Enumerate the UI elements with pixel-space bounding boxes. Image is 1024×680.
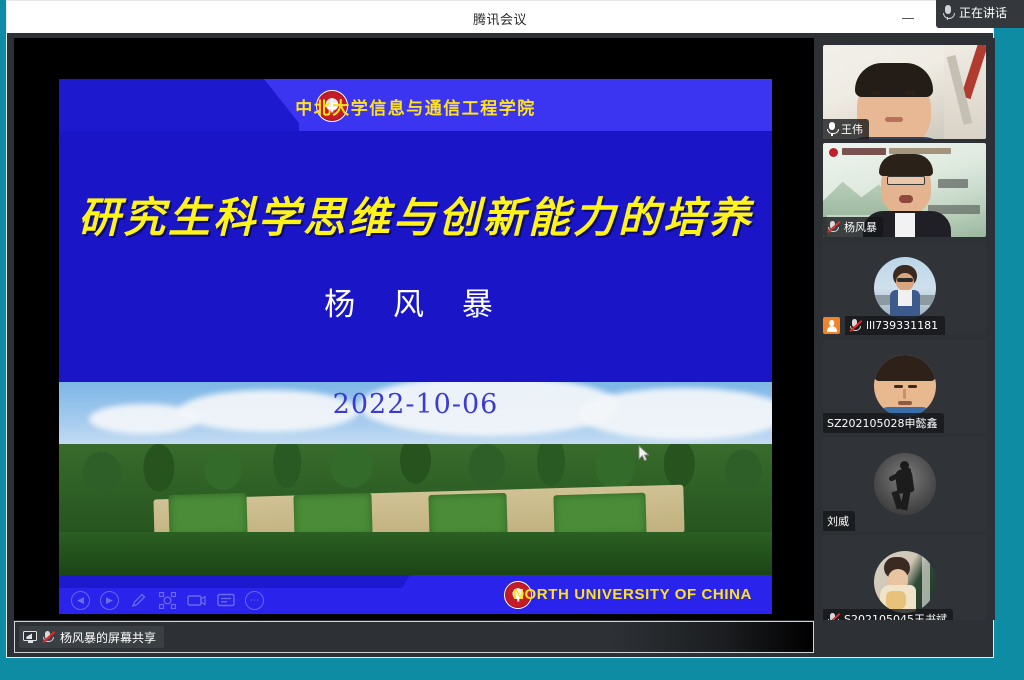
participant-name-chip: 刘威 [823, 511, 855, 531]
participant-name-chip: S202105045王书斌 [823, 609, 953, 620]
display-settings-icon[interactable] [187, 591, 206, 610]
participant-name-chip: lll739331181 [823, 316, 945, 335]
mic-muted-icon [849, 319, 862, 333]
participant-tile-yangfengbao[interactable]: 杨风暴 [823, 143, 986, 237]
participant-name: 刘威 [827, 513, 849, 529]
avatar [874, 355, 936, 417]
mic-muted-icon [827, 220, 840, 234]
previous-slide-icon[interactable]: ◀ [71, 591, 90, 610]
participant-tile-sz202105028[interactable]: SZ202105028申懿鑫 [823, 339, 986, 433]
slide-author: 杨 风 暴 [59, 279, 772, 324]
more-options-icon[interactable]: ⋯ [245, 591, 264, 610]
participant-name-chip: 杨风暴 [823, 217, 883, 237]
slide-footer-title: NORTH UNIVERSITY OF CHINA [513, 586, 752, 603]
pen-tool-icon[interactable] [129, 591, 148, 610]
avatar [874, 257, 936, 319]
mic-muted-icon [827, 612, 840, 620]
slide-date: 2022-10-06 [59, 389, 772, 420]
speaking-label: 正在讲话 [959, 4, 1007, 21]
minimize-button[interactable] [895, 7, 921, 27]
host-badge-icon [823, 317, 840, 334]
mic-icon [942, 5, 953, 20]
avatar [874, 551, 936, 613]
slide-header-band: 中北大学信息与通信工程学院 [59, 79, 772, 131]
participant-name: SZ202105028申懿鑫 [827, 415, 938, 431]
mic-on-icon [827, 122, 837, 136]
screen-share-label: 杨风暴的屏幕共享 [60, 629, 156, 646]
participant-name-chip: 王伟 [823, 119, 869, 139]
powerpoint-slide[interactable]: 中北大学信息与通信工程学院 研究生科学思维与创新能力的培养 杨 风 暴 2022… [59, 79, 772, 614]
next-slide-icon[interactable]: ▶ [100, 591, 119, 610]
subtitles-icon[interactable] [216, 591, 235, 610]
statusbar-fade [613, 622, 813, 652]
participant-tile-liuwei[interactable]: 刘威 [823, 437, 986, 531]
participant-name: S202105045王书斌 [844, 611, 947, 620]
meeting-window: 腾讯会议 中北大学信息与通信工程学院 研究生科学思维与创新能力的培养 杨 风 暴 [6, 0, 994, 658]
screen-share-chip[interactable]: 杨风暴的屏幕共享 [19, 626, 164, 648]
participant-name: 杨风暴 [844, 219, 877, 235]
avatar [874, 453, 936, 515]
window-titlebar: 腾讯会议 [7, 1, 993, 33]
screen-share-icon [23, 631, 37, 643]
shared-screen-area[interactable]: 中北大学信息与通信工程学院 研究生科学思维与创新能力的培养 杨 风 暴 2022… [14, 38, 814, 620]
slideshow-controls[interactable]: ◀ ▶ [71, 591, 264, 610]
participant-name: 王伟 [841, 121, 863, 137]
speaking-indicator[interactable]: 正在讲话 [936, 0, 1024, 28]
slide-header-title: 中北大学信息与通信工程学院 [59, 94, 772, 119]
participant-tile-lll739331181[interactable]: lll739331181 [823, 241, 986, 335]
participant-tile-wangwei[interactable]: 王伟 [823, 45, 986, 139]
window-title: 腾讯会议 [7, 9, 993, 28]
participant-name: lll739331181 [866, 319, 938, 332]
mic-muted-icon [42, 630, 55, 644]
participant-strip[interactable]: 王伟 杨风暴 [815, 38, 995, 620]
screen-share-statusbar: 杨风暴的屏幕共享 [14, 621, 814, 653]
participant-name-chip: SZ202105028申懿鑫 [823, 413, 944, 433]
slide-main-title: 研究生科学思维与创新能力的培养 [59, 184, 772, 245]
zoom-slide-icon[interactable] [158, 591, 177, 610]
participant-tile-s202105045[interactable]: S202105045王书斌 [823, 535, 986, 620]
